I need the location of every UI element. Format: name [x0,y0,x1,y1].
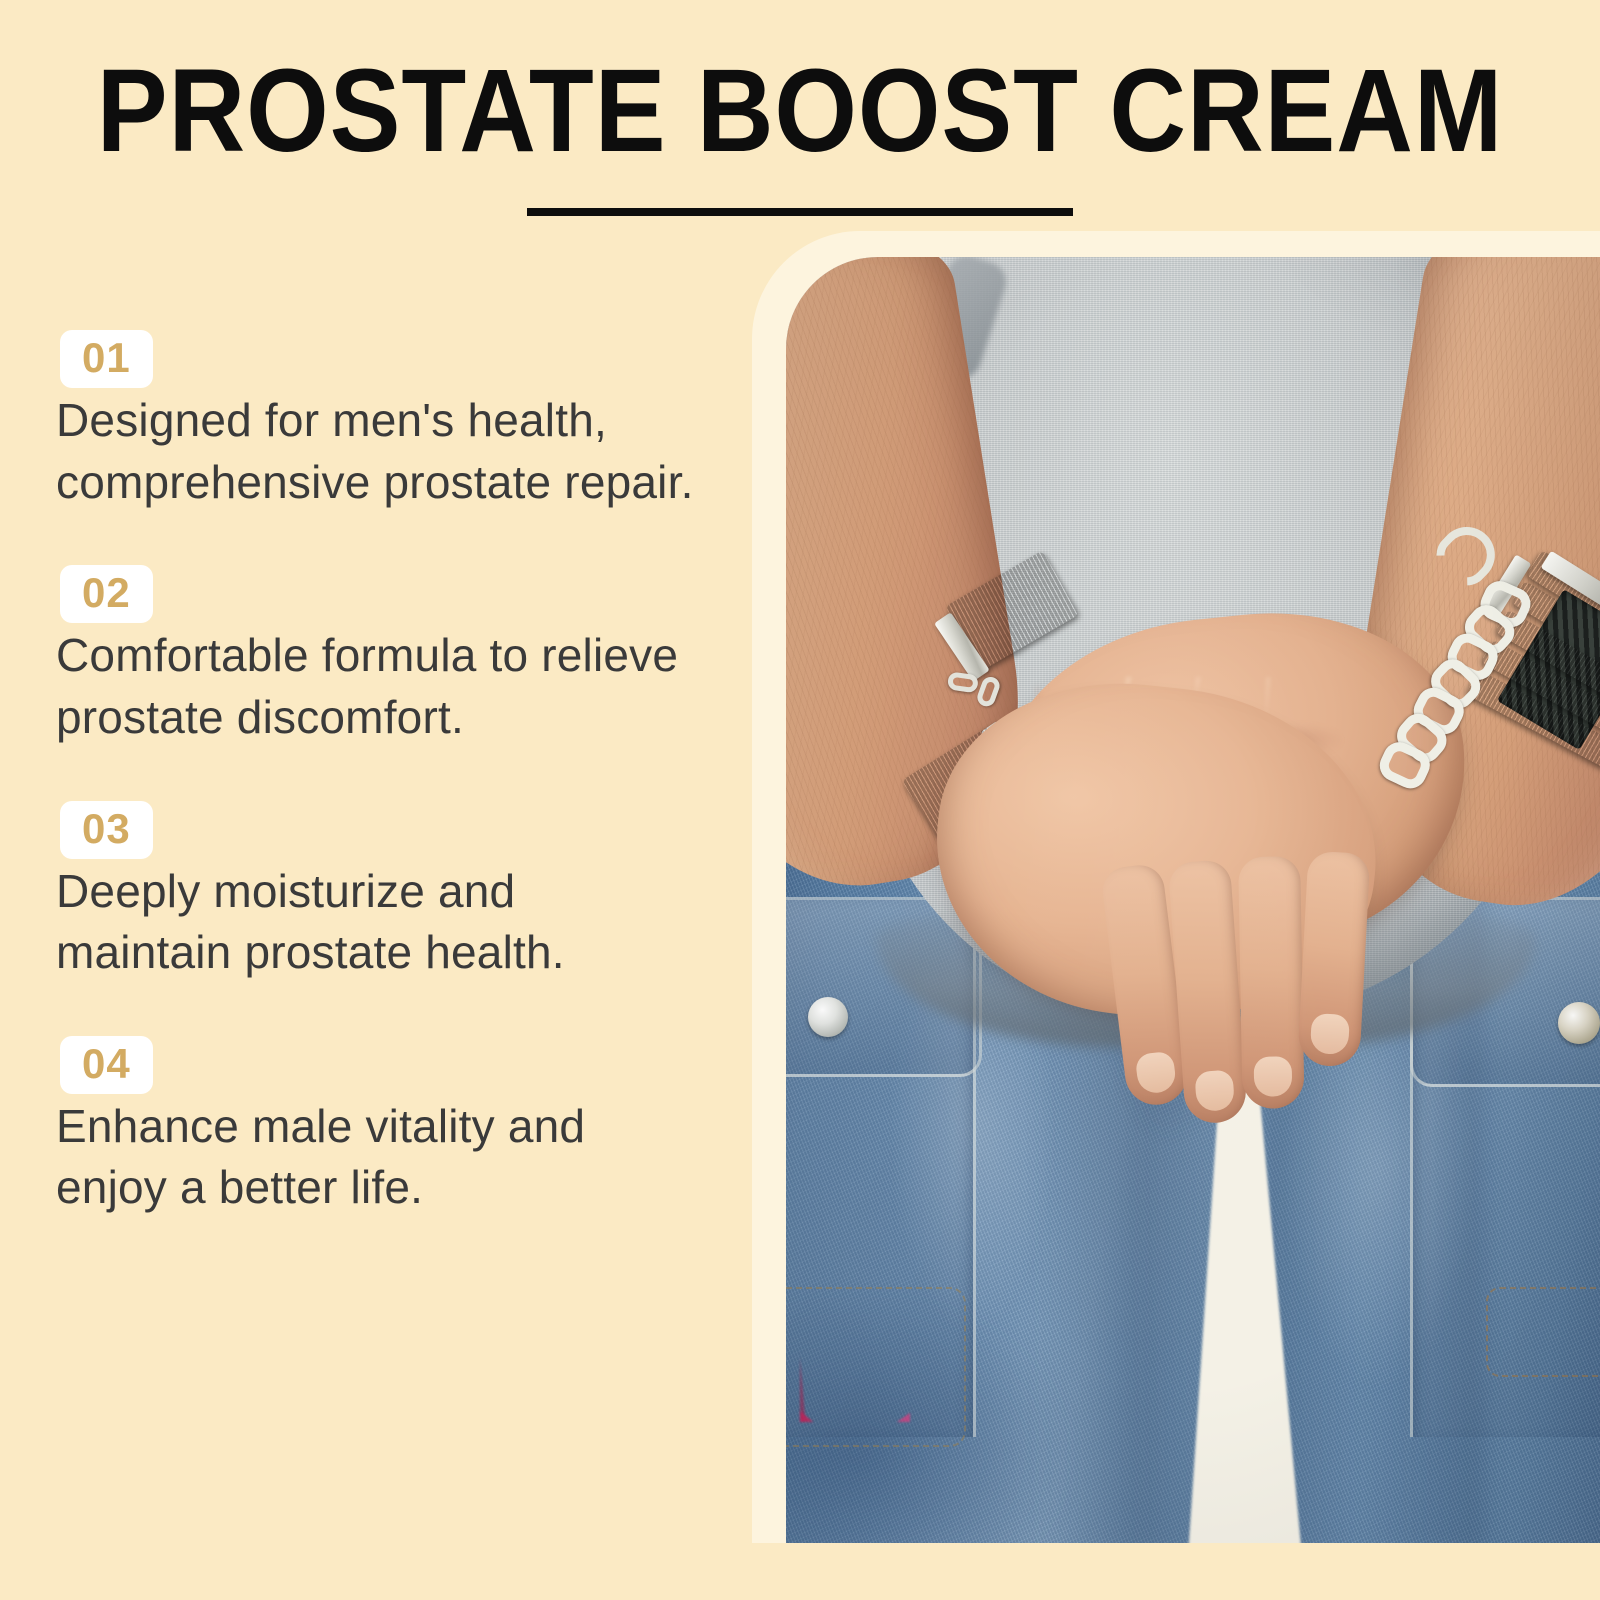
feature-list: 01 Designed for men's health, comprehens… [56,330,706,1219]
feature-text-02: Comfortable formula to relieve prostate … [56,625,696,748]
fingernail-1 [1135,1051,1178,1095]
feature-item-02: 02 Comfortable formula to relieve prosta… [56,565,706,748]
stitching-detail-right [1486,1287,1600,1377]
infographic-page: PROSTATE BOOST CREAM 01 Designed for men… [0,0,1600,1600]
feature-number-badge-03: 03 [60,801,153,859]
fingernail-3 [1254,1056,1293,1097]
feature-text-01: Designed for men's health, comprehensive… [56,390,696,513]
snap-button-left [808,997,848,1037]
page-title-block: PROSTATE BOOST CREAM [0,52,1600,216]
fingers-group [1106,847,1426,1167]
chain-link-lower [975,674,1002,708]
feature-number-04: 04 [82,1040,131,1087]
page-title: PROSTATE BOOST CREAM [80,52,1520,170]
finger-4 [1297,851,1370,1068]
feature-item-01: 01 Designed for men's health, comprehens… [56,330,706,513]
feature-number-badge-04: 04 [60,1036,153,1094]
feature-number-01: 01 [82,334,131,381]
product-photo [786,257,1600,1543]
snap-button-right [1558,1002,1600,1044]
denim-print-detail [800,1312,910,1422]
feature-text-03: Deeply moisturize and maintain prostate … [56,861,696,984]
feature-number-badge-01: 01 [60,330,153,388]
feature-item-04: 04 Enhance male vitality and enjoy a bet… [56,1036,706,1219]
feature-number-badge-02: 02 [60,565,153,623]
product-photo-frame [786,257,1600,1543]
feature-number-02: 02 [82,569,131,616]
feature-number-03: 03 [82,805,131,852]
title-underline-divider [527,208,1073,216]
fingernail-2 [1194,1070,1235,1113]
feature-text-04: Enhance male vitality and enjoy a better… [56,1096,696,1219]
feature-item-03: 03 Deeply moisturize and maintain prosta… [56,801,706,984]
finger-3 [1238,856,1304,1109]
fingernail-4 [1310,1013,1350,1055]
